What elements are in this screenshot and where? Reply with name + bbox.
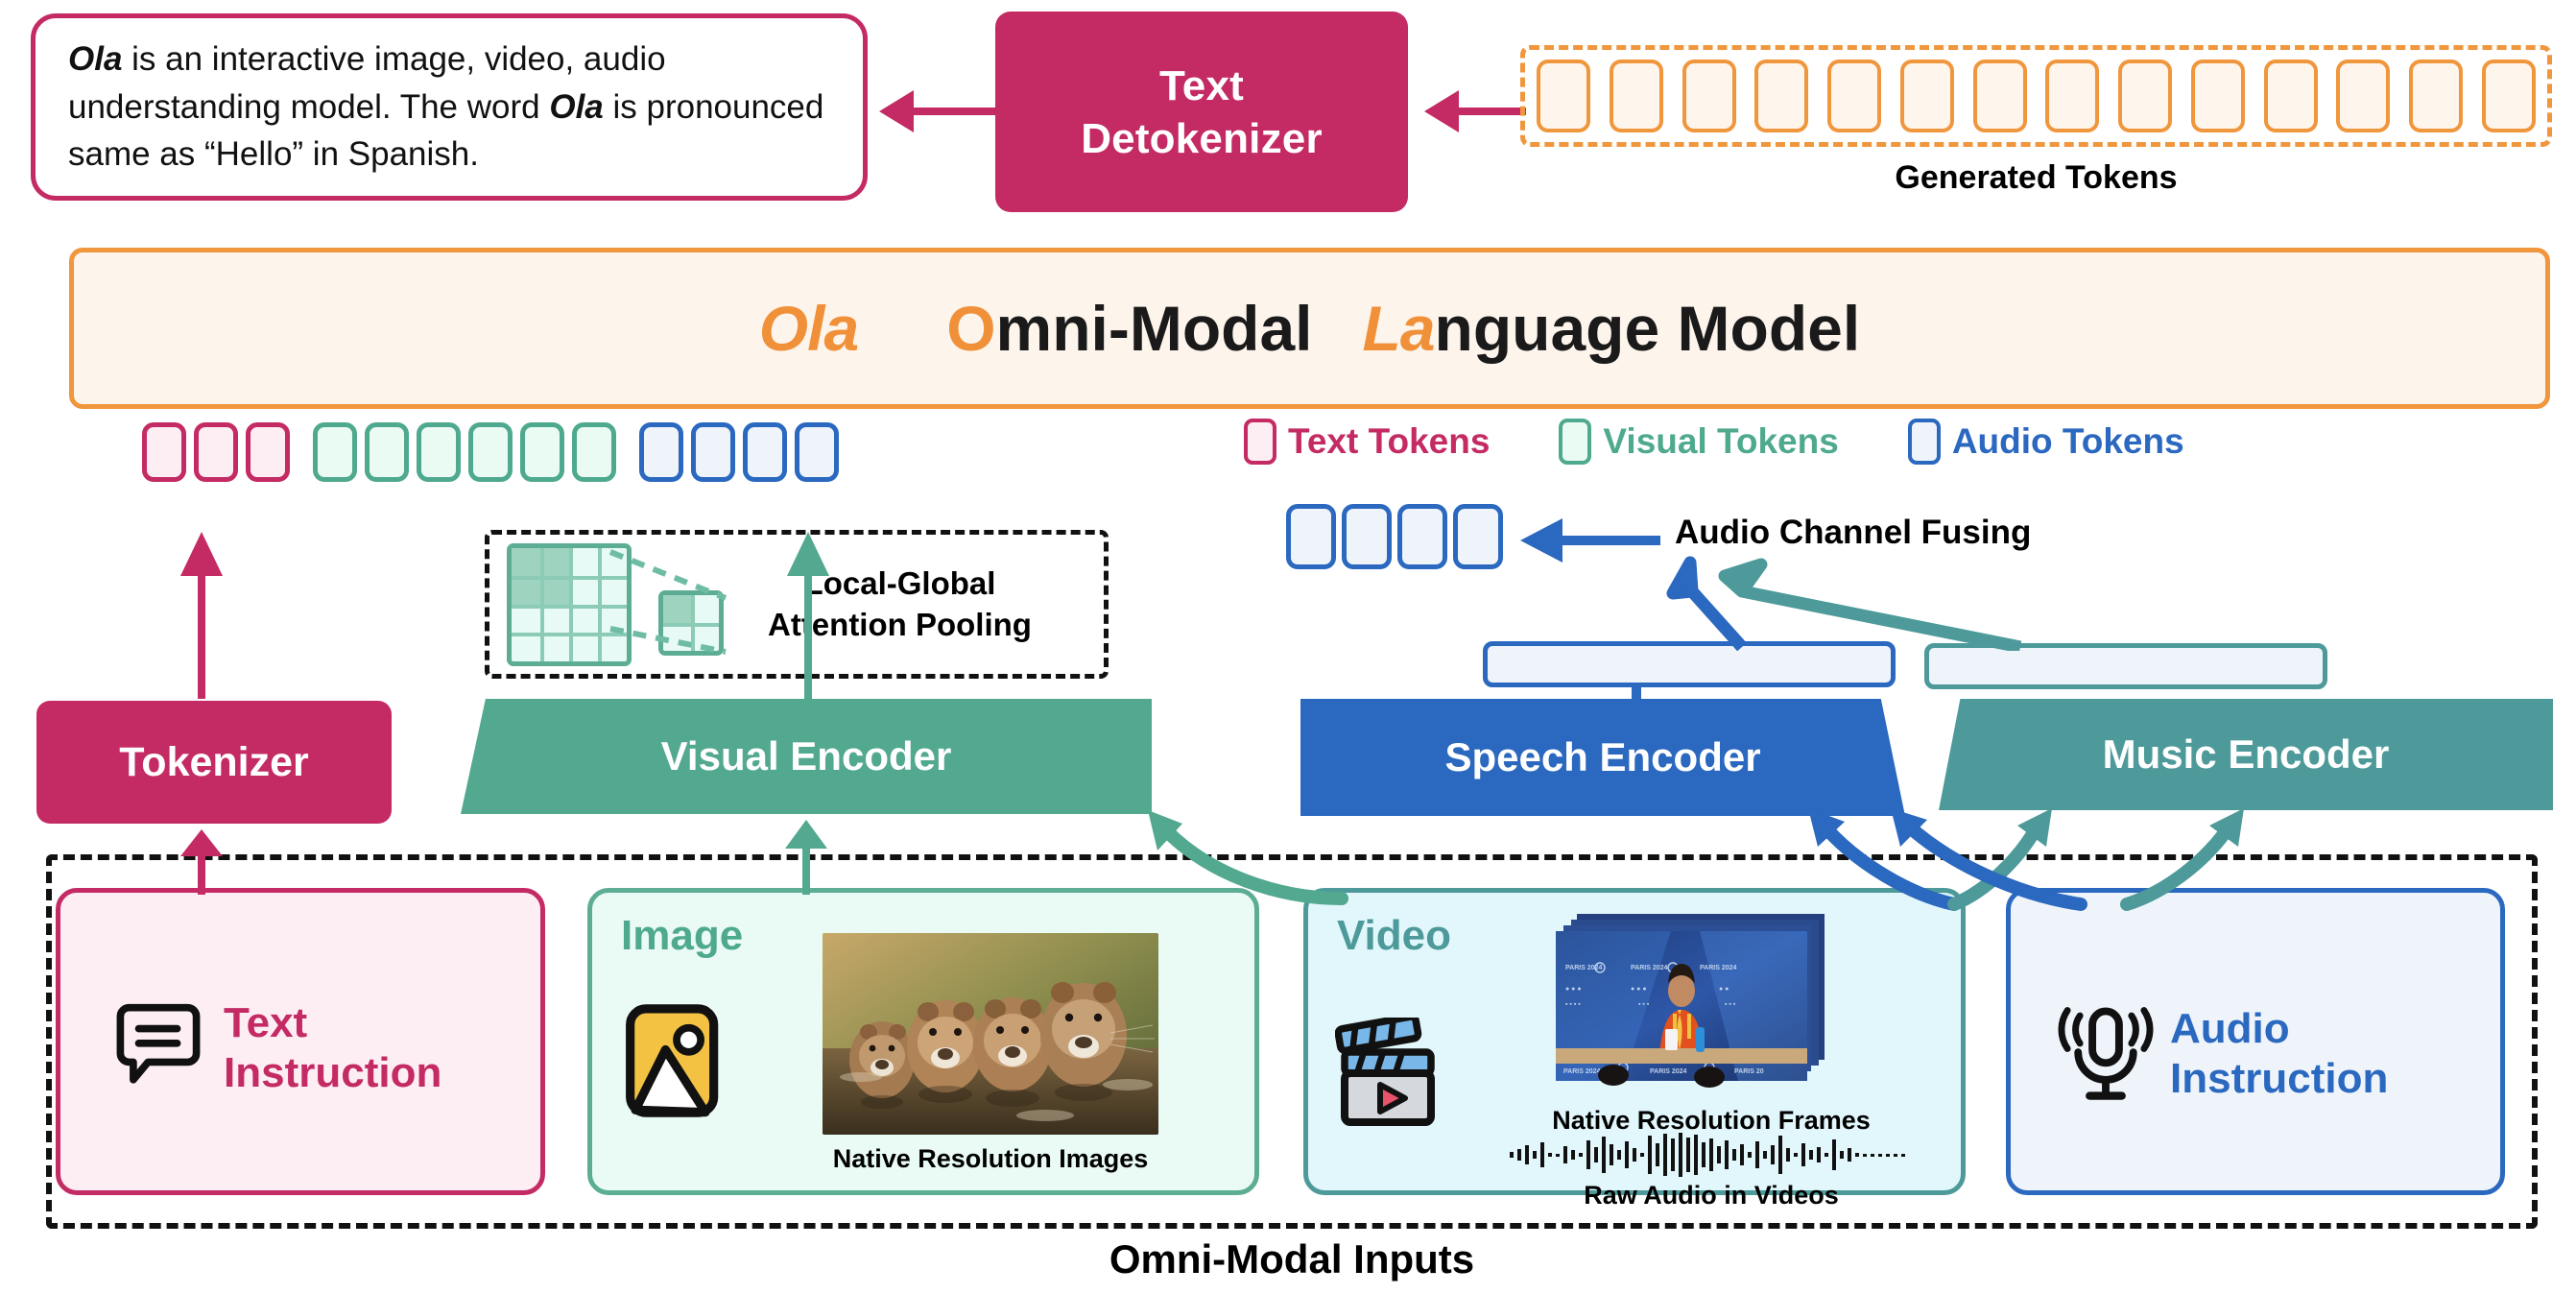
generated-token xyxy=(1827,60,1881,132)
arrow-text-card-to-tokenizer xyxy=(173,827,230,895)
arrow-detokenizer-to-answer xyxy=(875,79,998,144)
svg-text:▪ ▪ ▪: ▪ ▪ ▪ xyxy=(1725,1001,1736,1008)
text-token xyxy=(246,422,290,482)
answer-ola-2: Ola xyxy=(549,88,603,126)
svg-text:● ● ●: ● ● ● xyxy=(1631,986,1647,993)
audio-token xyxy=(639,422,683,482)
connector-speech-encoder-bar xyxy=(1632,685,1670,705)
image-input-card[interactable]: Image xyxy=(587,888,1259,1195)
generated-token xyxy=(1973,60,2027,132)
fused-audio-token xyxy=(1342,504,1392,569)
capybara-photo xyxy=(823,933,1158,1135)
text-instruction-card[interactable]: TextInstruction xyxy=(56,888,545,1195)
video-audio-caption: Raw Audio in Videos xyxy=(1500,1181,1922,1210)
speech-encoder-block: Speech Encoder xyxy=(1300,699,1905,816)
ola-model-banner: OlaOmni-ModalLanguage Model xyxy=(69,248,2550,409)
audio-token xyxy=(743,422,787,482)
legend-item-text-tokens: Text Tokens xyxy=(1244,419,1490,465)
banner-lang-rest: nguage Model xyxy=(1435,293,1861,364)
generated-token xyxy=(2118,60,2172,132)
generated-token xyxy=(2336,60,2390,132)
audio-waveform-icon xyxy=(1508,1133,1920,1177)
pooling-connector-icon xyxy=(603,544,737,659)
visual-token xyxy=(468,422,513,482)
arrow-image-card-to-visual-encoder xyxy=(777,818,835,895)
arrow-tokenizer-to-banner xyxy=(173,526,230,699)
arrow-music-to-fused xyxy=(1704,555,2135,651)
legend-label-visual: Visual Tokens xyxy=(1603,421,1838,462)
video-frames-caption: Native Resolution Frames xyxy=(1500,1106,1922,1136)
arrow-video-to-visual-encoder xyxy=(1133,806,1353,912)
generated-token xyxy=(2482,60,2536,132)
text-detokenizer-block: TextDetokenizer xyxy=(995,12,1408,212)
text-detokenizer-label: TextDetokenizer xyxy=(1081,60,1323,165)
tokenizer-label: Tokenizer xyxy=(119,739,309,786)
image-card-caption: Native Resolution Images xyxy=(823,1144,1158,1174)
arrow-tokens-to-detokenizer xyxy=(1420,79,1526,144)
visual-token xyxy=(313,422,357,482)
video-card-title: Video xyxy=(1337,912,1451,960)
audio-token xyxy=(691,422,735,482)
banner-ola-word: Ola xyxy=(759,293,858,364)
generated-tokens-label: Generated Tokens xyxy=(1520,159,2552,197)
audio-channel-fusing-label: Audio Channel Fusing xyxy=(1675,514,2031,552)
legend-label-text: Text Tokens xyxy=(1288,421,1490,462)
music-encoder-block: Music Encoder xyxy=(1939,699,2553,810)
speech-encoder-label: Speech Encoder xyxy=(1444,734,1760,780)
legend-item-audio-tokens: Audio Tokens xyxy=(1908,419,2184,465)
arrow-audio-to-music-encoder xyxy=(2044,806,2284,912)
legend-item-visual-tokens: Visual Tokens xyxy=(1559,419,1838,465)
generated-token xyxy=(2191,60,2245,132)
generated-token xyxy=(1900,60,1954,132)
svg-text:PARIS 2024: PARIS 2024 xyxy=(1631,965,1667,971)
banner-omni-initial: O xyxy=(946,293,995,364)
legend-label-audio: Audio Tokens xyxy=(1952,421,2184,462)
video-input-card[interactable]: Video xyxy=(1303,888,1966,1195)
generated-tokens-group xyxy=(1520,45,2552,147)
text-token xyxy=(142,422,186,482)
svg-text:PARIS 2024: PARIS 2024 xyxy=(1700,965,1736,971)
audio-token xyxy=(795,422,839,482)
generated-token xyxy=(2409,60,2463,132)
visual-encoder-block: Visual Encoder xyxy=(461,699,1152,814)
visual-token xyxy=(572,422,616,482)
token-legend: Text Tokens Visual Tokens Audio Tokens xyxy=(1244,419,2254,465)
tokenizer-block: Tokenizer xyxy=(36,701,392,824)
svg-text:PARIS 20: PARIS 20 xyxy=(1734,1068,1764,1075)
answer-ola-1: Ola xyxy=(68,40,122,78)
visual-token xyxy=(520,422,564,482)
generated-token xyxy=(2264,60,2318,132)
generated-token xyxy=(1610,60,1663,132)
svg-text:PARIS 2024: PARIS 2024 xyxy=(1650,1068,1686,1075)
clapperboard-icon xyxy=(1335,1018,1460,1133)
text-instruction-label: TextInstruction xyxy=(224,998,441,1098)
image-card-title: Image xyxy=(621,912,743,960)
model-token-strip xyxy=(142,422,847,482)
visual-token-swatch-icon xyxy=(1559,419,1591,465)
fused-audio-token xyxy=(1397,504,1447,569)
svg-text:PARIS 2024: PARIS 2024 xyxy=(1563,1068,1600,1075)
audio-instruction-card[interactable]: AudioInstruction xyxy=(2006,888,2505,1195)
visual-token xyxy=(417,422,461,482)
speech-bubble-icon xyxy=(107,996,210,1100)
omni-modal-inputs-label: Omni-Modal Inputs xyxy=(46,1236,2538,1282)
visual-encoder-label: Visual Encoder xyxy=(661,733,952,779)
text-token-swatch-icon xyxy=(1244,419,1276,465)
banner-lang-initial: La xyxy=(1363,293,1435,364)
generated-token xyxy=(1537,60,1590,132)
svg-text:● ● ●: ● ● ● xyxy=(1565,986,1582,993)
text-token xyxy=(194,422,238,482)
picture-icon xyxy=(621,1000,732,1123)
diagram-canvas: Ola is an interactive image, video, audi… xyxy=(0,0,2576,1294)
svg-text:▪ ▪ ▪: ▪ ▪ ▪ xyxy=(1638,1001,1650,1008)
music-encoder-label: Music Encoder xyxy=(2103,731,2390,778)
audio-token-swatch-icon xyxy=(1908,419,1941,465)
video-frames-stack: PARIS 2024PARIS 2024PARIS 2024 ● ● ●● ● … xyxy=(1556,914,1844,1098)
microphone-icon xyxy=(2057,1000,2155,1108)
generated-token xyxy=(1754,60,1808,132)
answer-text: Ola is an interactive image, video, audi… xyxy=(68,36,830,179)
svg-text:● ●: ● ● xyxy=(1719,986,1729,993)
audio-instruction-label: AudioInstruction xyxy=(2170,1004,2388,1104)
fused-audio-token xyxy=(1286,504,1336,569)
visual-token xyxy=(365,422,409,482)
arrow-visual-encoder-to-banner xyxy=(779,526,837,701)
banner-omni-rest: mni-Modal xyxy=(996,293,1313,364)
answer-bubble: Ola is an interactive image, video, audi… xyxy=(31,13,868,201)
svg-text:▪ ▪ ▪ ▪: ▪ ▪ ▪ ▪ xyxy=(1565,1001,1581,1008)
generated-token xyxy=(1682,60,1736,132)
generated-token xyxy=(2045,60,2099,132)
